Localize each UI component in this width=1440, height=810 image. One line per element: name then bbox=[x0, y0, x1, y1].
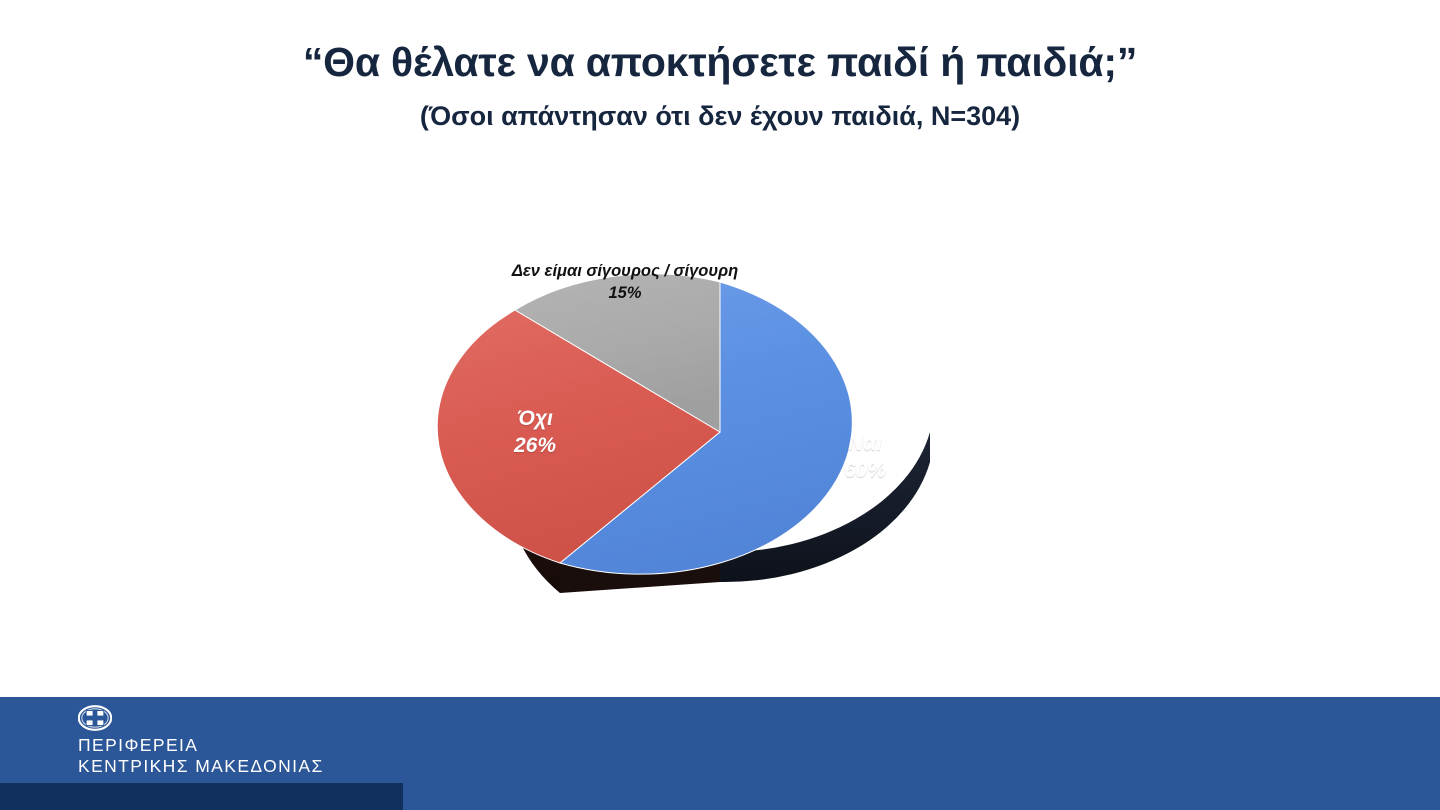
presentation-slide: “Θα θέλατε να αποκτήσετε παιδί ή παιδιά;… bbox=[0, 0, 1440, 810]
greek-republic-emblem-icon bbox=[78, 705, 112, 731]
organization-name-line1: ΠΕΡΙΦΕΡΕΙΑ bbox=[78, 735, 324, 756]
title-block: “Θα θέλατε να αποκτήσετε παιδί ή παιδιά;… bbox=[0, 40, 1440, 132]
footer-accent-band bbox=[0, 783, 403, 810]
pie-chart: Δεν είμαι σίγουρος / σίγουρη 15% Ναι 60%… bbox=[460, 245, 980, 665]
organization-logo: ΠΕΡΙΦΕΡΕΙΑ ΚΕΝΤΡΙΚΗΣ ΜΑΚΕΔΟΝΙΑΣ bbox=[78, 705, 324, 778]
page-title: “Θα θέλατε να αποκτήσετε παιδί ή παιδιά;… bbox=[0, 40, 1440, 86]
pie-chart-svg bbox=[460, 275, 980, 665]
organization-name-line2: ΚΕΝΤΡΙΚΗΣ ΜΑΚΕΔΟΝΙΑΣ bbox=[78, 756, 324, 777]
page-subtitle: (Όσοι απάντησαν ότι δεν έχουν παιδιά, N=… bbox=[0, 100, 1440, 132]
organization-name: ΠΕΡΙΦΕΡΕΙΑ ΚΕΝΤΡΙΚΗΣ ΜΑΚΕΔΟΝΙΑΣ bbox=[78, 735, 324, 778]
